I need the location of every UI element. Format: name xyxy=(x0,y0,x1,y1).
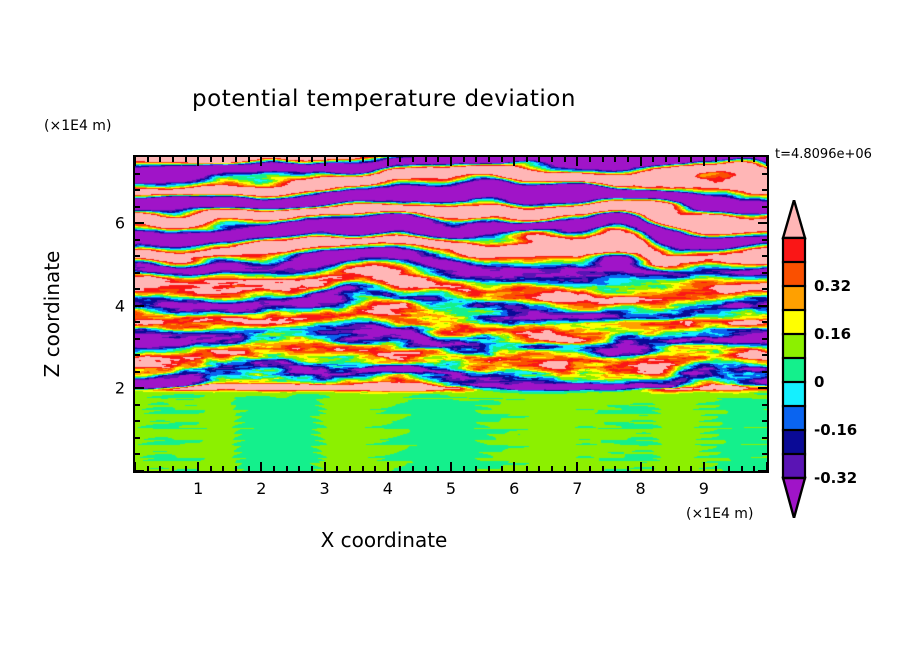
x-tick-top xyxy=(298,157,300,162)
x-tick-top xyxy=(172,157,174,162)
x-tick xyxy=(589,466,591,471)
x-tick-top xyxy=(425,157,427,162)
y-tick-right xyxy=(762,288,767,290)
y-axis-unit-label: (×1E4 m) xyxy=(44,118,111,134)
x-tick xyxy=(336,466,338,471)
contour-field-canvas xyxy=(135,157,767,471)
x-tick-top xyxy=(324,157,326,166)
y-tick xyxy=(135,272,140,274)
colorbar-band xyxy=(783,286,805,310)
x-tick-top xyxy=(311,157,313,162)
x-tick xyxy=(248,466,250,471)
x-tick xyxy=(159,466,161,471)
colorbar-band xyxy=(783,382,805,406)
x-tick-top xyxy=(538,157,540,162)
y-tick xyxy=(135,173,140,175)
y-tick-right xyxy=(762,255,767,257)
x-tick xyxy=(501,466,503,471)
x-tick xyxy=(678,466,680,471)
x-tick xyxy=(564,466,566,471)
x-tick-top xyxy=(134,157,136,166)
colorbar-label: 0 xyxy=(814,373,824,391)
x-tick xyxy=(235,466,237,471)
x-tick-top xyxy=(678,157,680,162)
x-tick-top xyxy=(690,157,692,162)
colorbar-label: -0.16 xyxy=(814,421,857,439)
x-tick xyxy=(627,466,629,471)
colorbar[interactable] xyxy=(780,200,808,518)
x-tick-top xyxy=(349,157,351,162)
x-tick xyxy=(690,466,692,471)
y-tick-right xyxy=(762,272,767,274)
x-tick xyxy=(463,466,465,471)
y-tick xyxy=(135,470,144,472)
colorbar-extend-high xyxy=(783,200,805,238)
x-tick xyxy=(349,466,351,471)
x-tick-top xyxy=(374,157,376,162)
y-tick xyxy=(135,420,140,422)
x-tick-top xyxy=(602,157,604,162)
x-tick-top xyxy=(526,157,528,162)
x-tick-label: 6 xyxy=(509,479,519,498)
x-tick xyxy=(197,462,199,471)
colorbar-band xyxy=(783,430,805,454)
colorbar-label: 0.16 xyxy=(814,325,851,343)
x-tick-top xyxy=(665,157,667,162)
x-tick-top xyxy=(185,157,187,162)
x-tick xyxy=(602,466,604,471)
y-tick-right xyxy=(758,305,767,307)
y-tick-right xyxy=(762,239,767,241)
colorbar-band xyxy=(783,238,805,262)
y-tick xyxy=(135,453,140,455)
x-tick-top xyxy=(159,157,161,162)
y-tick xyxy=(135,189,140,191)
y-tick-right xyxy=(762,420,767,422)
x-tick xyxy=(185,466,187,471)
x-tick-top xyxy=(564,157,566,162)
x-tick-top xyxy=(640,157,642,166)
y-tick-right xyxy=(758,387,767,389)
x-tick-top xyxy=(576,157,578,166)
x-tick-top xyxy=(450,157,452,166)
figure-root: potential temperature deviation (×1E4 m)… xyxy=(0,0,904,654)
x-tick xyxy=(640,462,642,471)
colorbar-band xyxy=(783,334,805,358)
x-tick-top xyxy=(412,157,414,162)
x-tick-top xyxy=(286,157,288,162)
x-tick-top xyxy=(715,157,717,162)
y-tick xyxy=(135,404,140,406)
y-tick-right xyxy=(762,338,767,340)
y-tick xyxy=(135,321,140,323)
y-tick-right xyxy=(762,189,767,191)
x-tick-top xyxy=(728,157,730,162)
x-tick-label: 3 xyxy=(320,479,330,498)
x-tick-top xyxy=(488,157,490,162)
x-tick xyxy=(652,466,654,471)
x-tick xyxy=(665,466,667,471)
x-axis-unit-label: (×1E4 m) xyxy=(686,506,753,522)
x-tick xyxy=(412,466,414,471)
x-axis-title: X coordinate xyxy=(0,528,768,552)
x-tick xyxy=(741,466,743,471)
y-tick xyxy=(135,354,140,356)
x-tick xyxy=(387,462,389,471)
x-tick-top xyxy=(589,157,591,162)
colorbar-band xyxy=(783,406,805,430)
x-tick-top xyxy=(475,157,477,162)
y-tick xyxy=(135,305,144,307)
x-tick-label: 4 xyxy=(383,479,393,498)
x-tick xyxy=(362,466,364,471)
plot-area[interactable] xyxy=(133,155,769,473)
y-tick xyxy=(135,288,140,290)
y-tick-right xyxy=(762,437,767,439)
y-tick xyxy=(135,239,140,241)
x-tick xyxy=(324,462,326,471)
x-tick-top xyxy=(501,157,503,162)
x-tick xyxy=(222,466,224,471)
x-tick xyxy=(437,466,439,471)
y-tick-right xyxy=(758,470,767,472)
x-tick xyxy=(526,466,528,471)
y-tick-right xyxy=(758,222,767,224)
y-axis-title: Z coordinate xyxy=(40,251,64,378)
x-tick-top xyxy=(399,157,401,162)
y-tick xyxy=(135,437,140,439)
x-tick xyxy=(728,466,730,471)
x-tick xyxy=(538,466,540,471)
x-tick-label: 1 xyxy=(193,479,203,498)
x-tick-top xyxy=(513,157,515,166)
timestamp-label: t=4.8096e+06 xyxy=(775,147,872,162)
y-tick-right xyxy=(762,173,767,175)
y-tick xyxy=(135,371,140,373)
y-tick xyxy=(135,255,140,257)
x-tick xyxy=(311,466,313,471)
colorbar-band xyxy=(783,262,805,286)
y-tick-right xyxy=(762,371,767,373)
x-tick-top xyxy=(741,157,743,162)
x-tick xyxy=(513,462,515,471)
x-tick-top xyxy=(703,157,705,166)
x-tick xyxy=(488,466,490,471)
x-tick xyxy=(172,466,174,471)
x-tick-top xyxy=(387,157,389,166)
x-tick-top xyxy=(273,157,275,162)
y-tick-right xyxy=(762,453,767,455)
x-tick-top xyxy=(248,157,250,162)
x-tick-top xyxy=(197,157,199,166)
x-tick-top xyxy=(210,157,212,162)
y-tick xyxy=(135,338,140,340)
x-tick-top xyxy=(437,157,439,162)
x-tick-top xyxy=(362,157,364,162)
y-tick xyxy=(135,206,140,208)
x-tick-top xyxy=(627,157,629,162)
y-tick-right xyxy=(762,404,767,406)
colorbar-band xyxy=(783,454,805,478)
x-tick-label: 8 xyxy=(636,479,646,498)
x-tick xyxy=(399,466,401,471)
x-tick xyxy=(298,466,300,471)
y-tick-label: 4 xyxy=(115,296,125,315)
colorbar-band xyxy=(783,358,805,382)
x-tick xyxy=(260,462,262,471)
y-tick-right xyxy=(762,321,767,323)
y-tick xyxy=(135,222,144,224)
x-tick-top xyxy=(336,157,338,162)
x-tick xyxy=(576,462,578,471)
x-tick-top xyxy=(147,157,149,162)
x-tick xyxy=(374,466,376,471)
x-tick-top xyxy=(652,157,654,162)
x-tick xyxy=(551,466,553,471)
colorbar-band xyxy=(783,310,805,334)
x-tick xyxy=(753,466,755,471)
x-tick xyxy=(614,466,616,471)
x-tick xyxy=(475,466,477,471)
x-tick xyxy=(147,466,149,471)
y-tick xyxy=(135,387,144,389)
x-tick-label: 9 xyxy=(699,479,709,498)
x-tick xyxy=(703,462,705,471)
colorbar-label: -0.32 xyxy=(814,469,857,487)
x-tick-top xyxy=(463,157,465,162)
x-tick xyxy=(210,466,212,471)
x-tick-label: 5 xyxy=(446,479,456,498)
colorbar-extend-low xyxy=(783,478,805,518)
x-tick-label: 7 xyxy=(572,479,582,498)
x-tick-top xyxy=(222,157,224,162)
x-tick-top xyxy=(766,157,768,166)
y-tick-label: 2 xyxy=(115,379,125,398)
x-tick-top xyxy=(753,157,755,162)
x-tick xyxy=(425,466,427,471)
x-tick-top xyxy=(260,157,262,166)
x-tick xyxy=(715,466,717,471)
x-tick xyxy=(450,462,452,471)
colorbar-label: 0.32 xyxy=(814,277,851,295)
x-tick-top xyxy=(551,157,553,162)
y-tick-right xyxy=(762,354,767,356)
x-tick xyxy=(273,466,275,471)
x-tick-top xyxy=(614,157,616,162)
y-tick-right xyxy=(762,206,767,208)
x-tick-label: 2 xyxy=(256,479,266,498)
x-tick xyxy=(286,466,288,471)
y-tick-label: 6 xyxy=(115,214,125,233)
x-tick-top xyxy=(235,157,237,162)
page-title: potential temperature deviation xyxy=(0,86,768,112)
